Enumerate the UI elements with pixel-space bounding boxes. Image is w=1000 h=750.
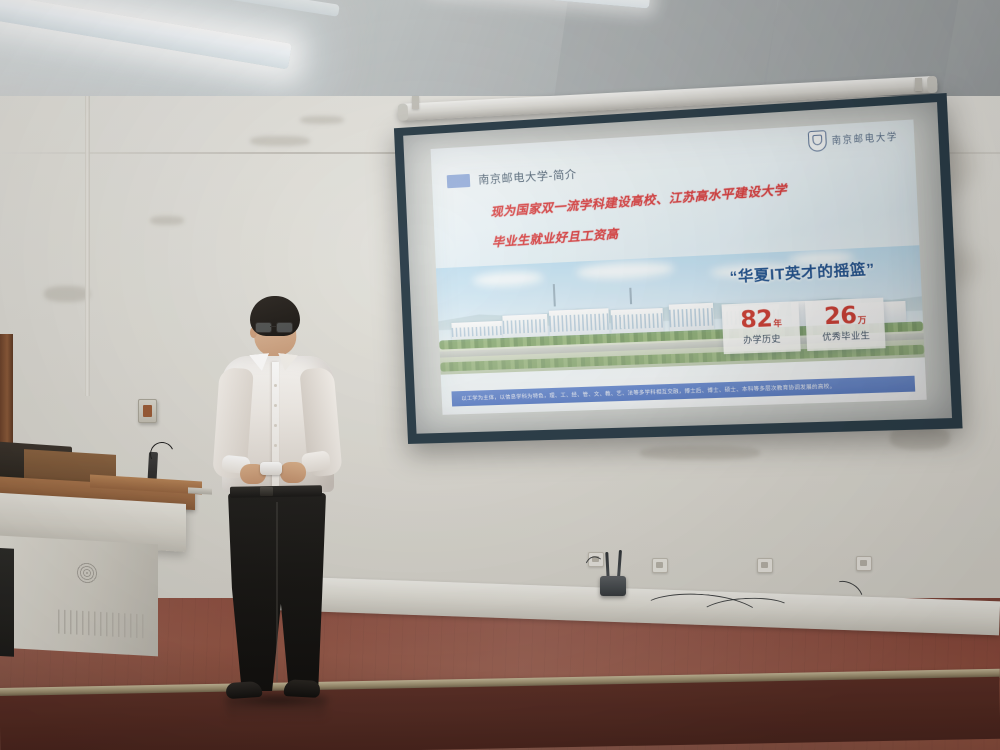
- stat-unit: 万: [857, 315, 866, 327]
- logo-wordmark: 南京邮电大学: [831, 129, 898, 147]
- slide-header: 南京邮电大学-简介: [447, 166, 577, 190]
- wall-outlet[interactable]: [652, 558, 668, 573]
- projection-screen[interactable]: 南京邮电大学 南京邮电大学-简介 现为国家双一流学科建设高校、江苏高水平建设大学…: [394, 93, 963, 444]
- podium-vent-grille: [58, 610, 146, 639]
- slide-footer-bar: 以工学为主体，以信息学科为特色，理、工、经、管、文、教、艺、法等多学科相互交融，…: [451, 375, 915, 406]
- podium-speaker-grille-icon: [75, 561, 99, 584]
- podium-lower-body: [0, 536, 158, 657]
- door-frame: [0, 334, 13, 452]
- slide-footer-text: 以工学为主体，以信息学科为特色，理、工、经、管、文、教、艺、法等多学科相互交融，…: [461, 382, 835, 402]
- wall-conduit: [85, 96, 90, 396]
- title-accent-chip-icon: [447, 173, 471, 187]
- stat-unit: 年: [773, 318, 782, 330]
- shield-emblem-icon: [807, 130, 826, 152]
- slide-stats: 82 年 办学历史 26 万 优秀毕业生: [722, 298, 886, 355]
- slide-red-line-1: 现为国家双一流学科建设高校、江苏高水平建设大学: [490, 181, 788, 221]
- wall-outlet[interactable]: [757, 558, 773, 573]
- presenter-shoe-right: [284, 679, 321, 698]
- glasses-icon: [254, 322, 294, 332]
- slide-title: 南京邮电大学-简介: [478, 166, 577, 188]
- presenter-hand-right: [280, 462, 306, 483]
- wall-outlet[interactable]: [856, 556, 872, 571]
- slide-red-line-2: 毕业生就业好且工资高: [492, 225, 620, 251]
- presentation-slide: 南京邮电大学 南京邮电大学-简介 现为国家双一流学科建设高校、江苏高水平建设大学…: [430, 119, 927, 415]
- presenter-shoe-left: [225, 681, 262, 699]
- stat-card: 82 年 办学历史: [722, 301, 801, 354]
- presenter-floor-reflection: [226, 696, 326, 722]
- screen-bracket: [915, 78, 922, 91]
- stat-label: 办学历史: [743, 333, 781, 347]
- presenter: [198, 296, 374, 714]
- screen-bracket: [412, 96, 419, 109]
- trouser-crease: [276, 502, 278, 682]
- screen-surface: 南京邮电大学 南京邮电大学-简介 现为国家双一流学科建设高校、江苏高水平建设大学…: [403, 102, 952, 434]
- podium-open-side: [0, 547, 14, 657]
- stat-card: 26 万 优秀毕业生: [805, 298, 886, 351]
- stat-number: 26: [824, 306, 857, 330]
- belt-buckle: [260, 487, 273, 496]
- wall-switch-box[interactable]: [138, 399, 157, 423]
- stat-label: 优秀毕业生: [822, 329, 871, 343]
- university-logo: 南京邮电大学: [807, 126, 898, 152]
- presentation-clicker[interactable]: [260, 462, 282, 475]
- presenter-belt: [230, 485, 322, 498]
- lecture-hall-photo: 南京邮电大学 南京邮电大学-简介 现为国家双一流学科建设高校、江苏高水平建设大学…: [0, 0, 1000, 750]
- stat-number: 82: [740, 309, 773, 333]
